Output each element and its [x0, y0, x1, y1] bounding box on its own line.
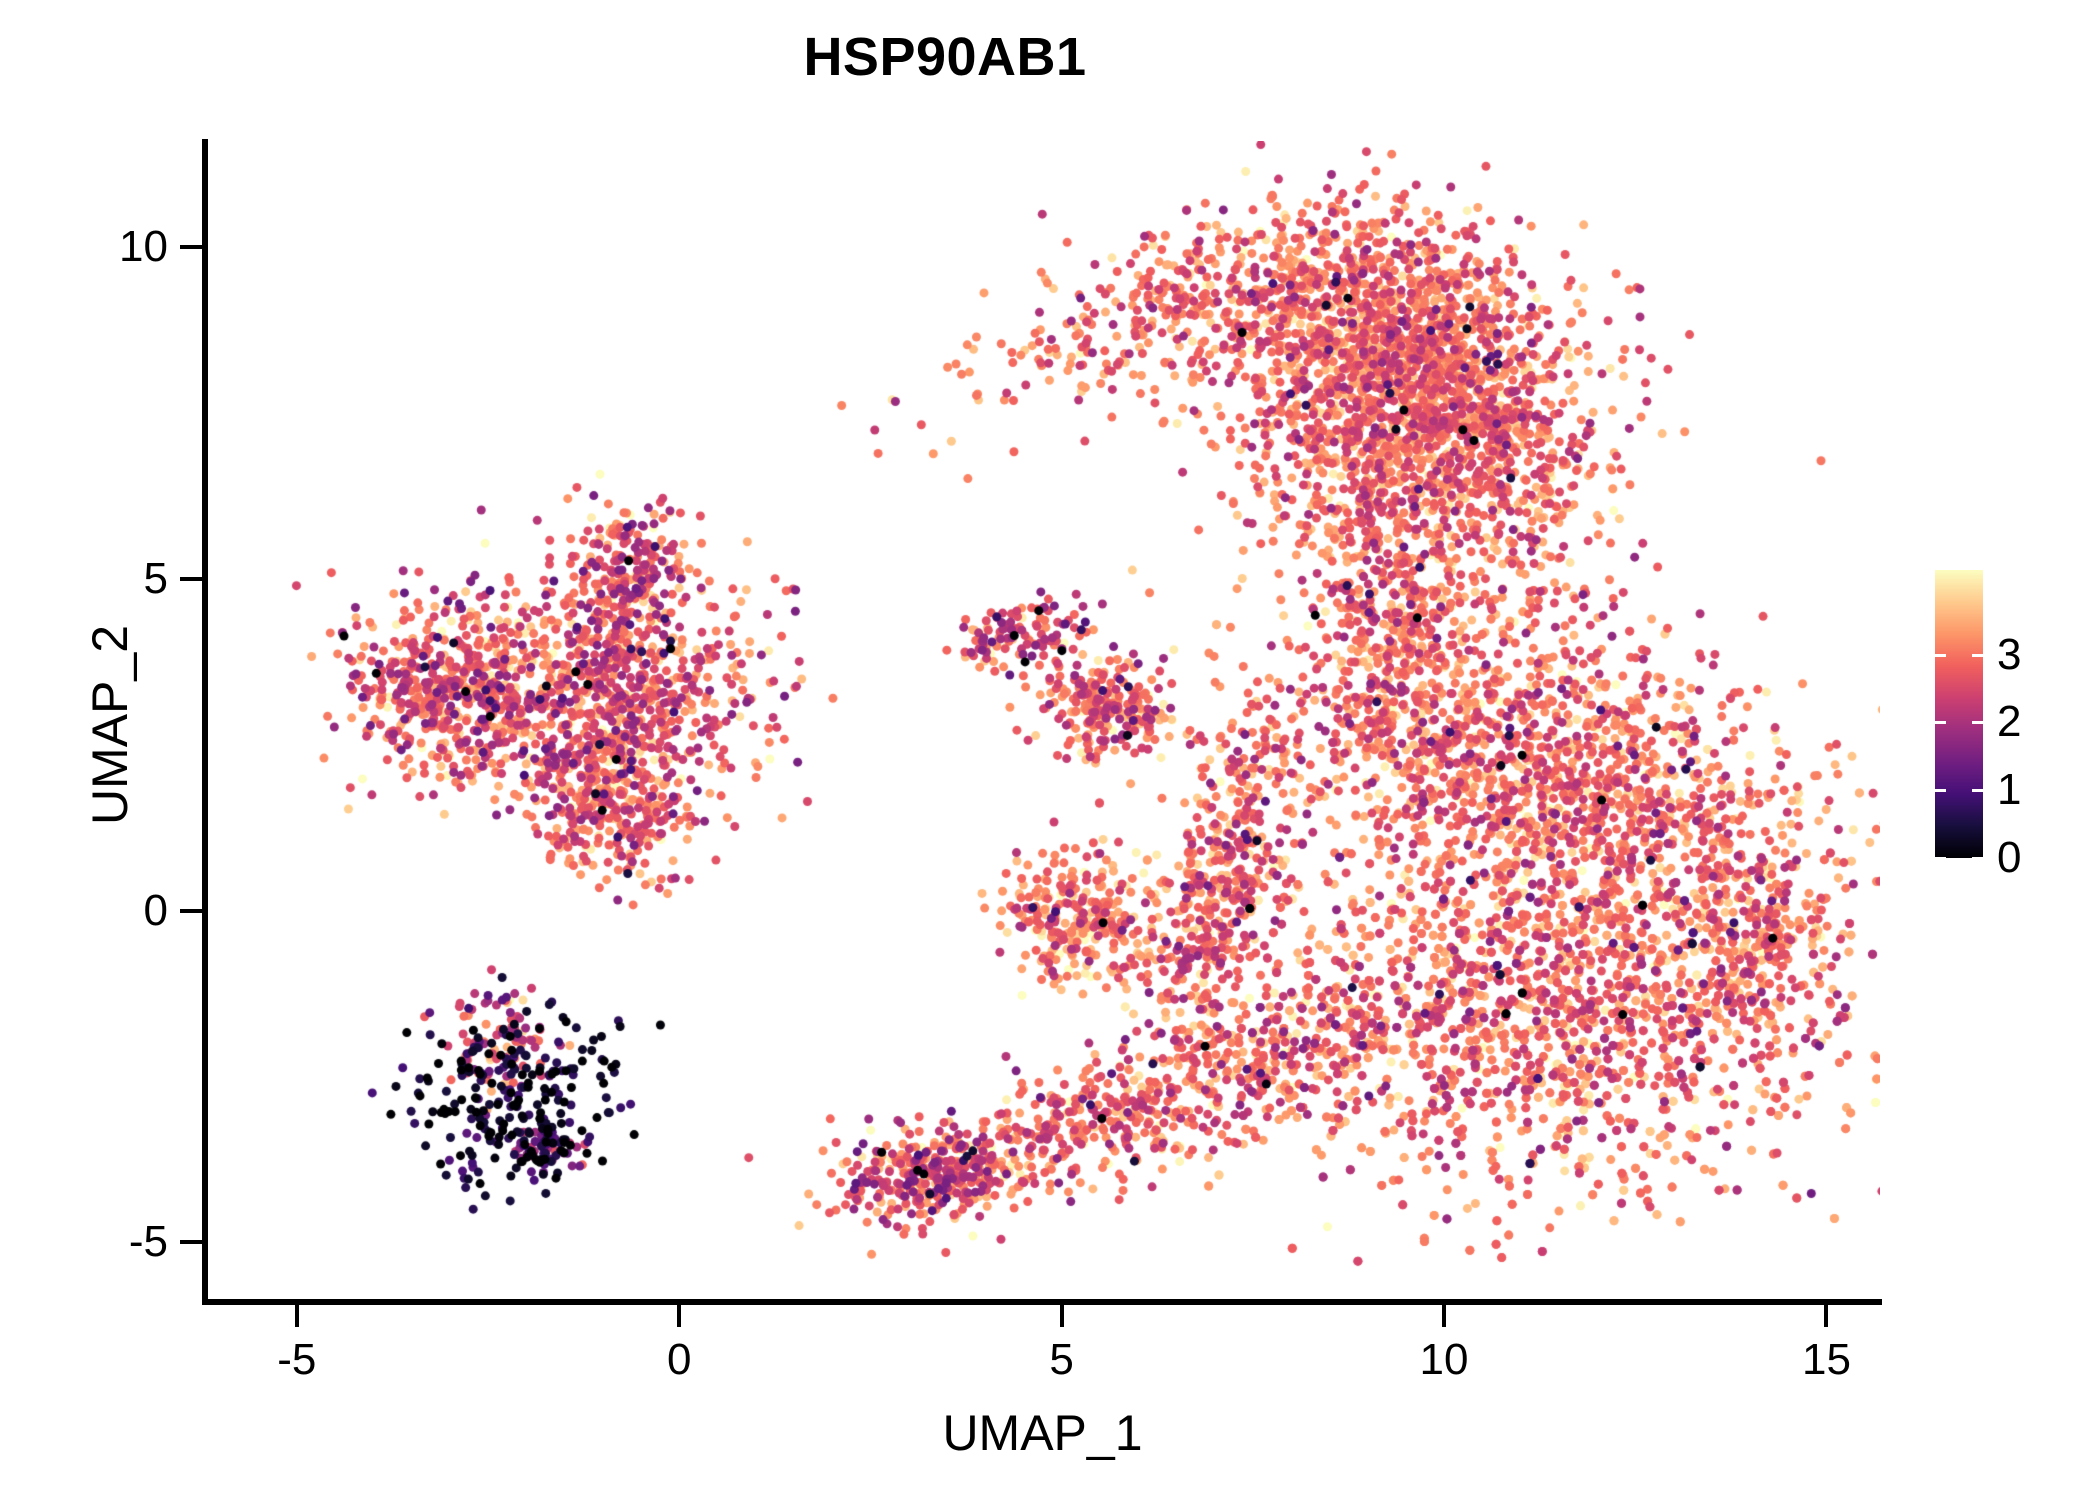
x-axis-line: [202, 1299, 1882, 1305]
y-tick-label: 5: [144, 557, 168, 601]
colorbar-tick-mark: [1935, 654, 1946, 657]
umap-feature-plot: HSP90AB1 -50510 -5051015 UMAP_1 UMAP_2 3…: [0, 0, 2100, 1500]
colorbar-tick-mark: [1972, 654, 1983, 657]
x-tick-mark: [677, 1305, 681, 1327]
plot-panel: [205, 141, 1880, 1302]
y-tick-label: 0: [144, 889, 168, 933]
x-tick-label: 5: [1049, 1338, 1073, 1382]
y-tick-mark: [180, 245, 202, 249]
y-axis-title: UMAP_2: [85, 145, 135, 1305]
x-tick-label: 10: [1420, 1338, 1469, 1382]
x-tick-label: 15: [1802, 1338, 1851, 1382]
y-tick-mark: [180, 577, 202, 581]
color-legend: 3210: [1935, 570, 2085, 870]
x-tick-label: 0: [667, 1338, 691, 1382]
colorbar-tick-label: 1: [1997, 768, 2021, 812]
colorbar-tick-mark: [1972, 789, 1983, 792]
y-axis-line: [202, 139, 208, 1305]
page-title: HSP90AB1: [0, 28, 1890, 87]
colorbar-tick-mark: [1972, 857, 1983, 860]
x-tick-label: -5: [277, 1338, 316, 1382]
x-tick-mark: [295, 1305, 299, 1327]
y-tick-mark: [180, 1240, 202, 1244]
colorbar-tick-mark: [1935, 789, 1946, 792]
colorbar-tick-mark: [1935, 721, 1946, 724]
x-tick-mark: [1060, 1305, 1064, 1327]
scatter-point-cloud: [205, 141, 1880, 1302]
colorbar-tick-mark: [1935, 857, 1946, 860]
colorbar-tick-label: 0: [1997, 836, 2021, 880]
colorbar-tick-mark: [1972, 721, 1983, 724]
x-tick-mark: [1824, 1305, 1828, 1327]
x-tick-mark: [1442, 1305, 1446, 1327]
colorbar-tick-label: 3: [1997, 633, 2021, 677]
x-axis-title: UMAP_1: [205, 1408, 1880, 1458]
y-tick-mark: [180, 909, 202, 913]
colorbar-tick-label: 2: [1997, 700, 2021, 744]
colorbar-gradient: [1935, 570, 1983, 858]
